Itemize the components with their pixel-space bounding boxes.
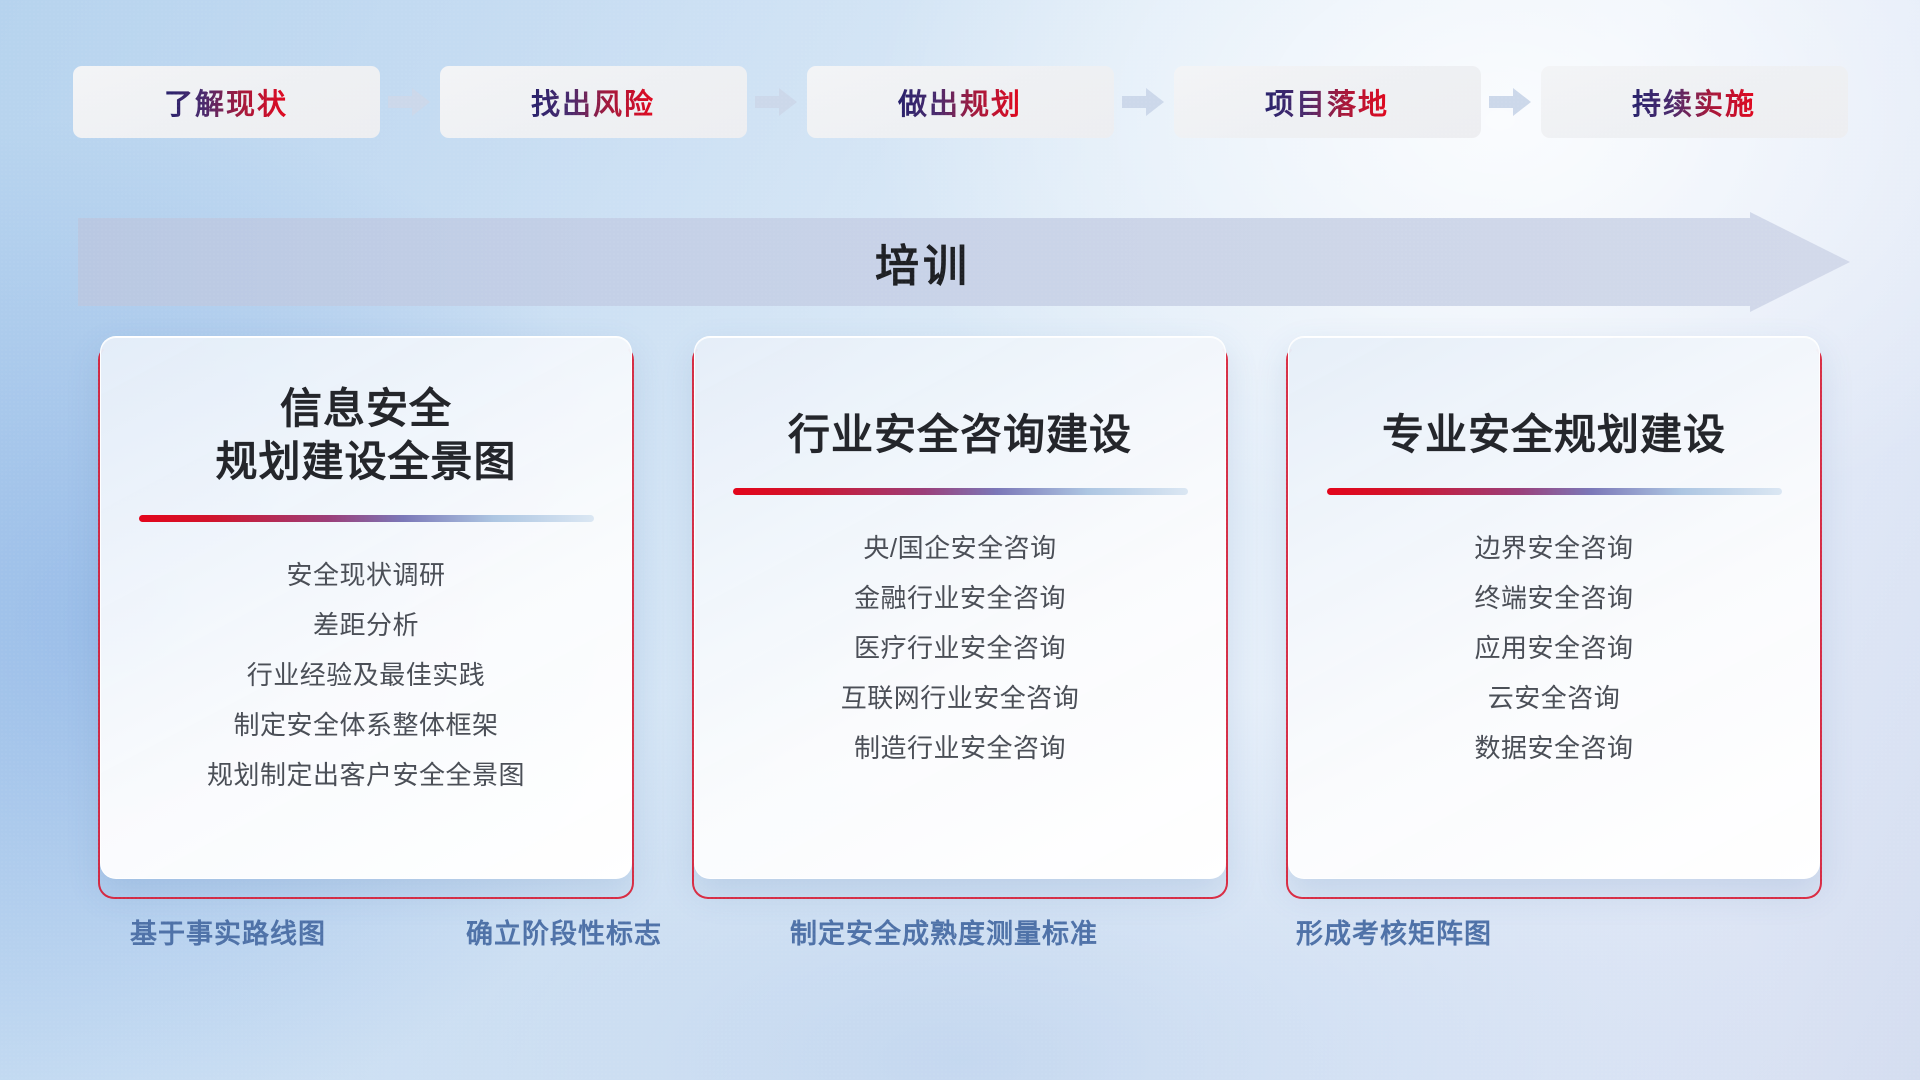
card-title-1: 信息安全 规划建设全景图 [215, 383, 516, 489]
step-group-5: 持续实施 [1541, 66, 1848, 138]
list-item: 制定安全体系整体框架 [233, 704, 498, 746]
slide-canvas: 了解现状 找出风险 做出规划 [0, 0, 1920, 1080]
step-box-3[interactable]: 做出规划 [807, 66, 1114, 138]
step-arrow-icon-2 [747, 66, 807, 138]
list-item: 央/国企安全咨询 [863, 527, 1056, 569]
bottom-label-1: 基于事实路线图 [130, 912, 326, 951]
step-label-1: 了解现状 [164, 81, 288, 123]
bottom-label-4: 形成考核矩阵图 [1296, 912, 1492, 951]
step-label-4: 项目落地 [1265, 81, 1389, 123]
step-box-2[interactable]: 找出风险 [440, 66, 747, 138]
banner-title: 培训 [78, 212, 1768, 312]
list-item: 互联网行业安全咨询 [841, 677, 1080, 719]
bottom-label-row: 基于事实路线图 确立阶段性标志 制定安全成熟度测量标准 形成考核矩阵图 [0, 912, 1920, 958]
list-item: 数据安全咨询 [1474, 727, 1633, 769]
list-item: 金融行业安全咨询 [854, 577, 1066, 619]
bottom-label-2: 确立阶段性标志 [466, 912, 662, 951]
step-group-1: 了解现状 [73, 66, 440, 138]
step-box-5[interactable]: 持续实施 [1541, 66, 1848, 138]
card-divider-2 [733, 488, 1188, 495]
list-item: 应用安全咨询 [1474, 627, 1633, 669]
card-outer-1: 信息安全 规划建设全景图 安全现状调研 差距分析 行业经验及最佳实践 制定安全体… [100, 336, 632, 879]
list-item: 行业经验及最佳实践 [247, 654, 486, 696]
step-arrow-icon-4 [1481, 66, 1541, 138]
card-divider-3 [1327, 488, 1782, 495]
step-box-1[interactable]: 了解现状 [73, 66, 380, 138]
step-label-3: 做出规划 [898, 81, 1022, 123]
bottom-label-3: 制定安全成熟度测量标准 [790, 912, 1098, 951]
step-group-2: 找出风险 [440, 66, 807, 138]
list-item: 安全现状调研 [286, 554, 445, 596]
process-step-row: 了解现状 找出风险 做出规划 [0, 66, 1920, 138]
card-title-2: 行业安全咨询建设 [788, 383, 1132, 462]
card-professional-security-planning[interactable]: 专业安全规划建设 边界安全咨询 终端安全咨询 应用安全咨询 云安全咨询 数据安全… [1288, 336, 1820, 879]
card-list-2: 央/国企安全咨询 金融行业安全咨询 医疗行业安全咨询 互联网行业安全咨询 制造行… [841, 527, 1080, 770]
card-industry-security-consulting[interactable]: 行业安全咨询建设 央/国企安全咨询 金融行业安全咨询 医疗行业安全咨询 互联网行… [694, 336, 1226, 879]
list-item: 云安全咨询 [1488, 677, 1621, 719]
step-label-2: 找出风险 [531, 81, 655, 123]
card-outer-3: 专业安全规划建设 边界安全咨询 终端安全咨询 应用安全咨询 云安全咨询 数据安全… [1288, 336, 1820, 879]
list-item: 规划制定出客户安全全景图 [207, 754, 525, 796]
card-title-3: 专业安全规划建设 [1382, 383, 1726, 462]
card-information-security-panorama[interactable]: 信息安全 规划建设全景图 安全现状调研 差距分析 行业经验及最佳实践 制定安全体… [100, 336, 632, 879]
training-banner: 培训 [78, 212, 1850, 312]
step-group-3: 做出规划 [807, 66, 1174, 138]
step-label-5: 持续实施 [1632, 81, 1756, 123]
card-list-3: 边界安全咨询 终端安全咨询 应用安全咨询 云安全咨询 数据安全咨询 [1474, 527, 1633, 770]
list-item: 终端安全咨询 [1474, 577, 1633, 619]
step-box-4[interactable]: 项目落地 [1174, 66, 1481, 138]
list-item: 制造行业安全咨询 [854, 727, 1066, 769]
card-list-1: 安全现状调研 差距分析 行业经验及最佳实践 制定安全体系整体框架 规划制定出客户… [207, 554, 525, 797]
card-row: 信息安全 规划建设全景图 安全现状调研 差距分析 行业经验及最佳实践 制定安全体… [0, 336, 1920, 879]
step-group-4: 项目落地 [1174, 66, 1541, 138]
step-arrow-icon-3 [1114, 66, 1174, 138]
list-item: 边界安全咨询 [1474, 527, 1633, 569]
list-item: 医疗行业安全咨询 [854, 627, 1066, 669]
step-arrow-icon-1 [380, 66, 440, 138]
list-item: 差距分析 [313, 604, 419, 646]
card-divider-1 [139, 515, 594, 522]
card-outer-2: 行业安全咨询建设 央/国企安全咨询 金融行业安全咨询 医疗行业安全咨询 互联网行… [694, 336, 1226, 879]
